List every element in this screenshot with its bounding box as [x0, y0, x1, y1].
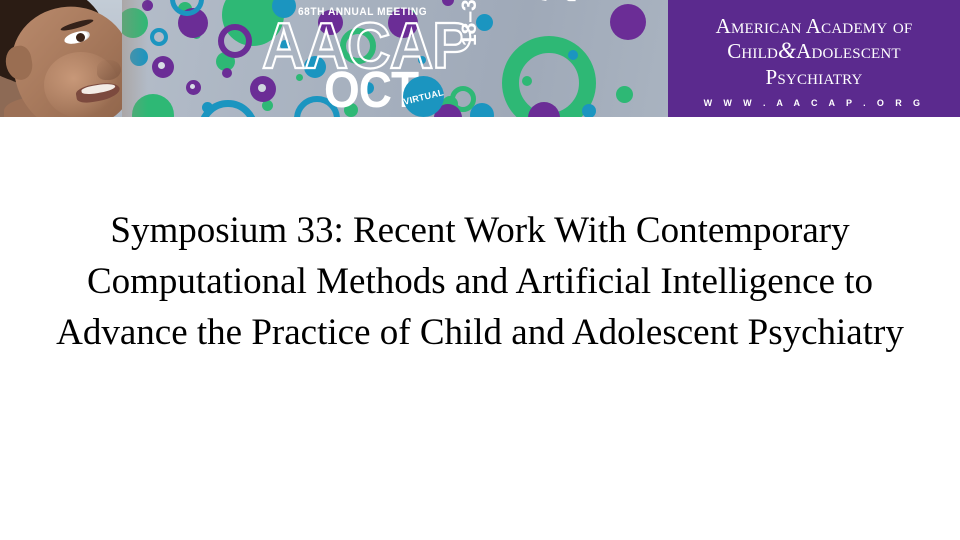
conference-banner: 68TH ANNUAL MEETING AACAP OCT 18–30 2021… [0, 0, 960, 117]
logo-line-1: American Academy of [716, 14, 913, 38]
decorative-dot [442, 0, 454, 6]
logo-line-2: Child&Adolescent [727, 38, 901, 65]
photo-pupil [76, 33, 85, 42]
logo-line-2-b: Adolescent [796, 39, 901, 63]
decorative-dot [222, 68, 232, 78]
virtual-badge: VIRTUAL [403, 76, 444, 117]
slide-title-container: Symposium 33: Recent Work With Contempor… [40, 205, 920, 358]
logo-line-2-a: Child [727, 39, 778, 63]
decorative-dot [568, 50, 578, 60]
page-title: Symposium 33: Recent Work With Contempor… [40, 205, 920, 358]
slide: 68TH ANNUAL MEETING AACAP OCT 18–30 2021… [0, 0, 960, 540]
virtual-badge-label: VIRTUAL [402, 87, 444, 107]
decorative-dot-center [258, 84, 266, 92]
decorative-ring [150, 28, 168, 46]
decorative-dot-center [190, 84, 195, 89]
logo-line-3: Psychiatry [765, 65, 862, 89]
ampersand-glyph: & [778, 38, 796, 63]
decorative-dot [582, 104, 596, 117]
year-label: 2021 [526, 0, 584, 2]
photo-edge-fade [122, 0, 148, 117]
decorative-ring [218, 24, 252, 58]
decorative-dot [616, 86, 633, 103]
dates-label: 18–30 [459, 0, 480, 46]
decorative-dot-center [158, 62, 165, 69]
child-photo [0, 0, 140, 117]
aacap-logo-block: American Academy of Child&Adolescent Psy… [668, 0, 960, 117]
logo-website-url: W W W . A A C A P . O R G [704, 98, 925, 108]
decorative-dot [470, 103, 494, 117]
banner-dot-pattern: 68TH ANNUAL MEETING AACAP OCT 18–30 2021… [122, 0, 668, 117]
decorative-dot [610, 4, 646, 40]
